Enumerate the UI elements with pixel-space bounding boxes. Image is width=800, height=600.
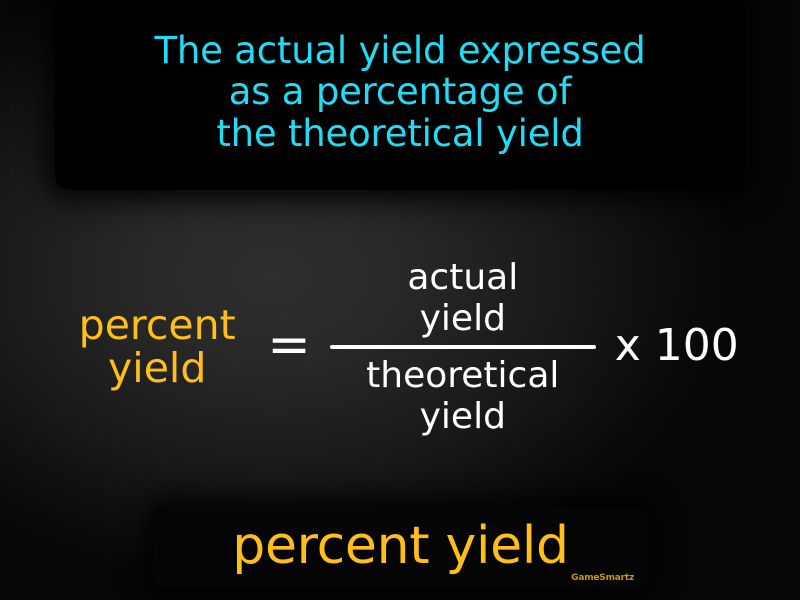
formula-left-term: percent yield [61, 304, 253, 389]
fraction-numerator: actual yield [407, 257, 518, 345]
term-label: percent yield [232, 520, 568, 576]
definition-text: The actual yield expressed as a percenta… [155, 30, 646, 154]
formula-multiplier: x 100 [615, 324, 739, 368]
definition-banner: The actual yield expressed as a percenta… [55, 0, 745, 190]
term-banner: percent yield GameSmartz [153, 507, 648, 588]
watermark-logo: GameSmartz [571, 573, 634, 583]
equals-sign: = [267, 319, 311, 371]
fraction-denominator: theoretical yield [366, 349, 559, 437]
fraction: actual yield theoretical yield [325, 257, 601, 437]
easy-definition-card: The actual yield expressed as a percenta… [0, 0, 800, 600]
formula-row: percent yield = actual yield theoretical… [61, 257, 739, 437]
formula-block: percent yield = actual yield theoretical… [0, 214, 800, 480]
